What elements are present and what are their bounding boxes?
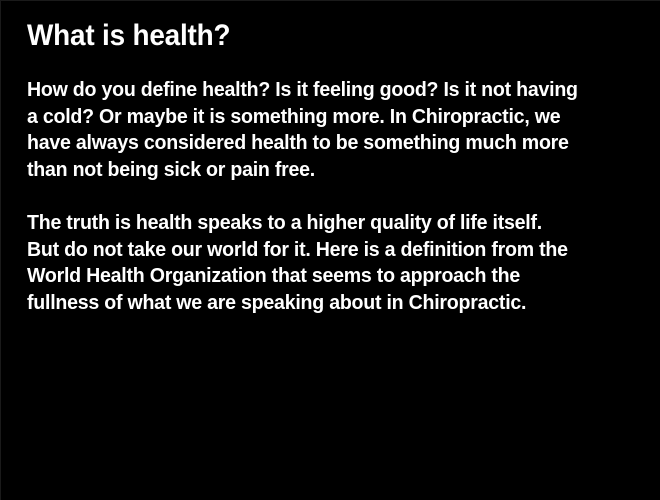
body-paragraph-two: The truth is health speaks to a higher q… — [27, 210, 610, 316]
slide-canvas: What is health? How do you define health… — [0, 0, 660, 500]
body-paragraph-one: How do you define health? Is it feeling … — [27, 77, 610, 183]
slide-content: What is health? How do you define health… — [27, 17, 637, 316]
page-title: What is health? — [27, 17, 594, 55]
